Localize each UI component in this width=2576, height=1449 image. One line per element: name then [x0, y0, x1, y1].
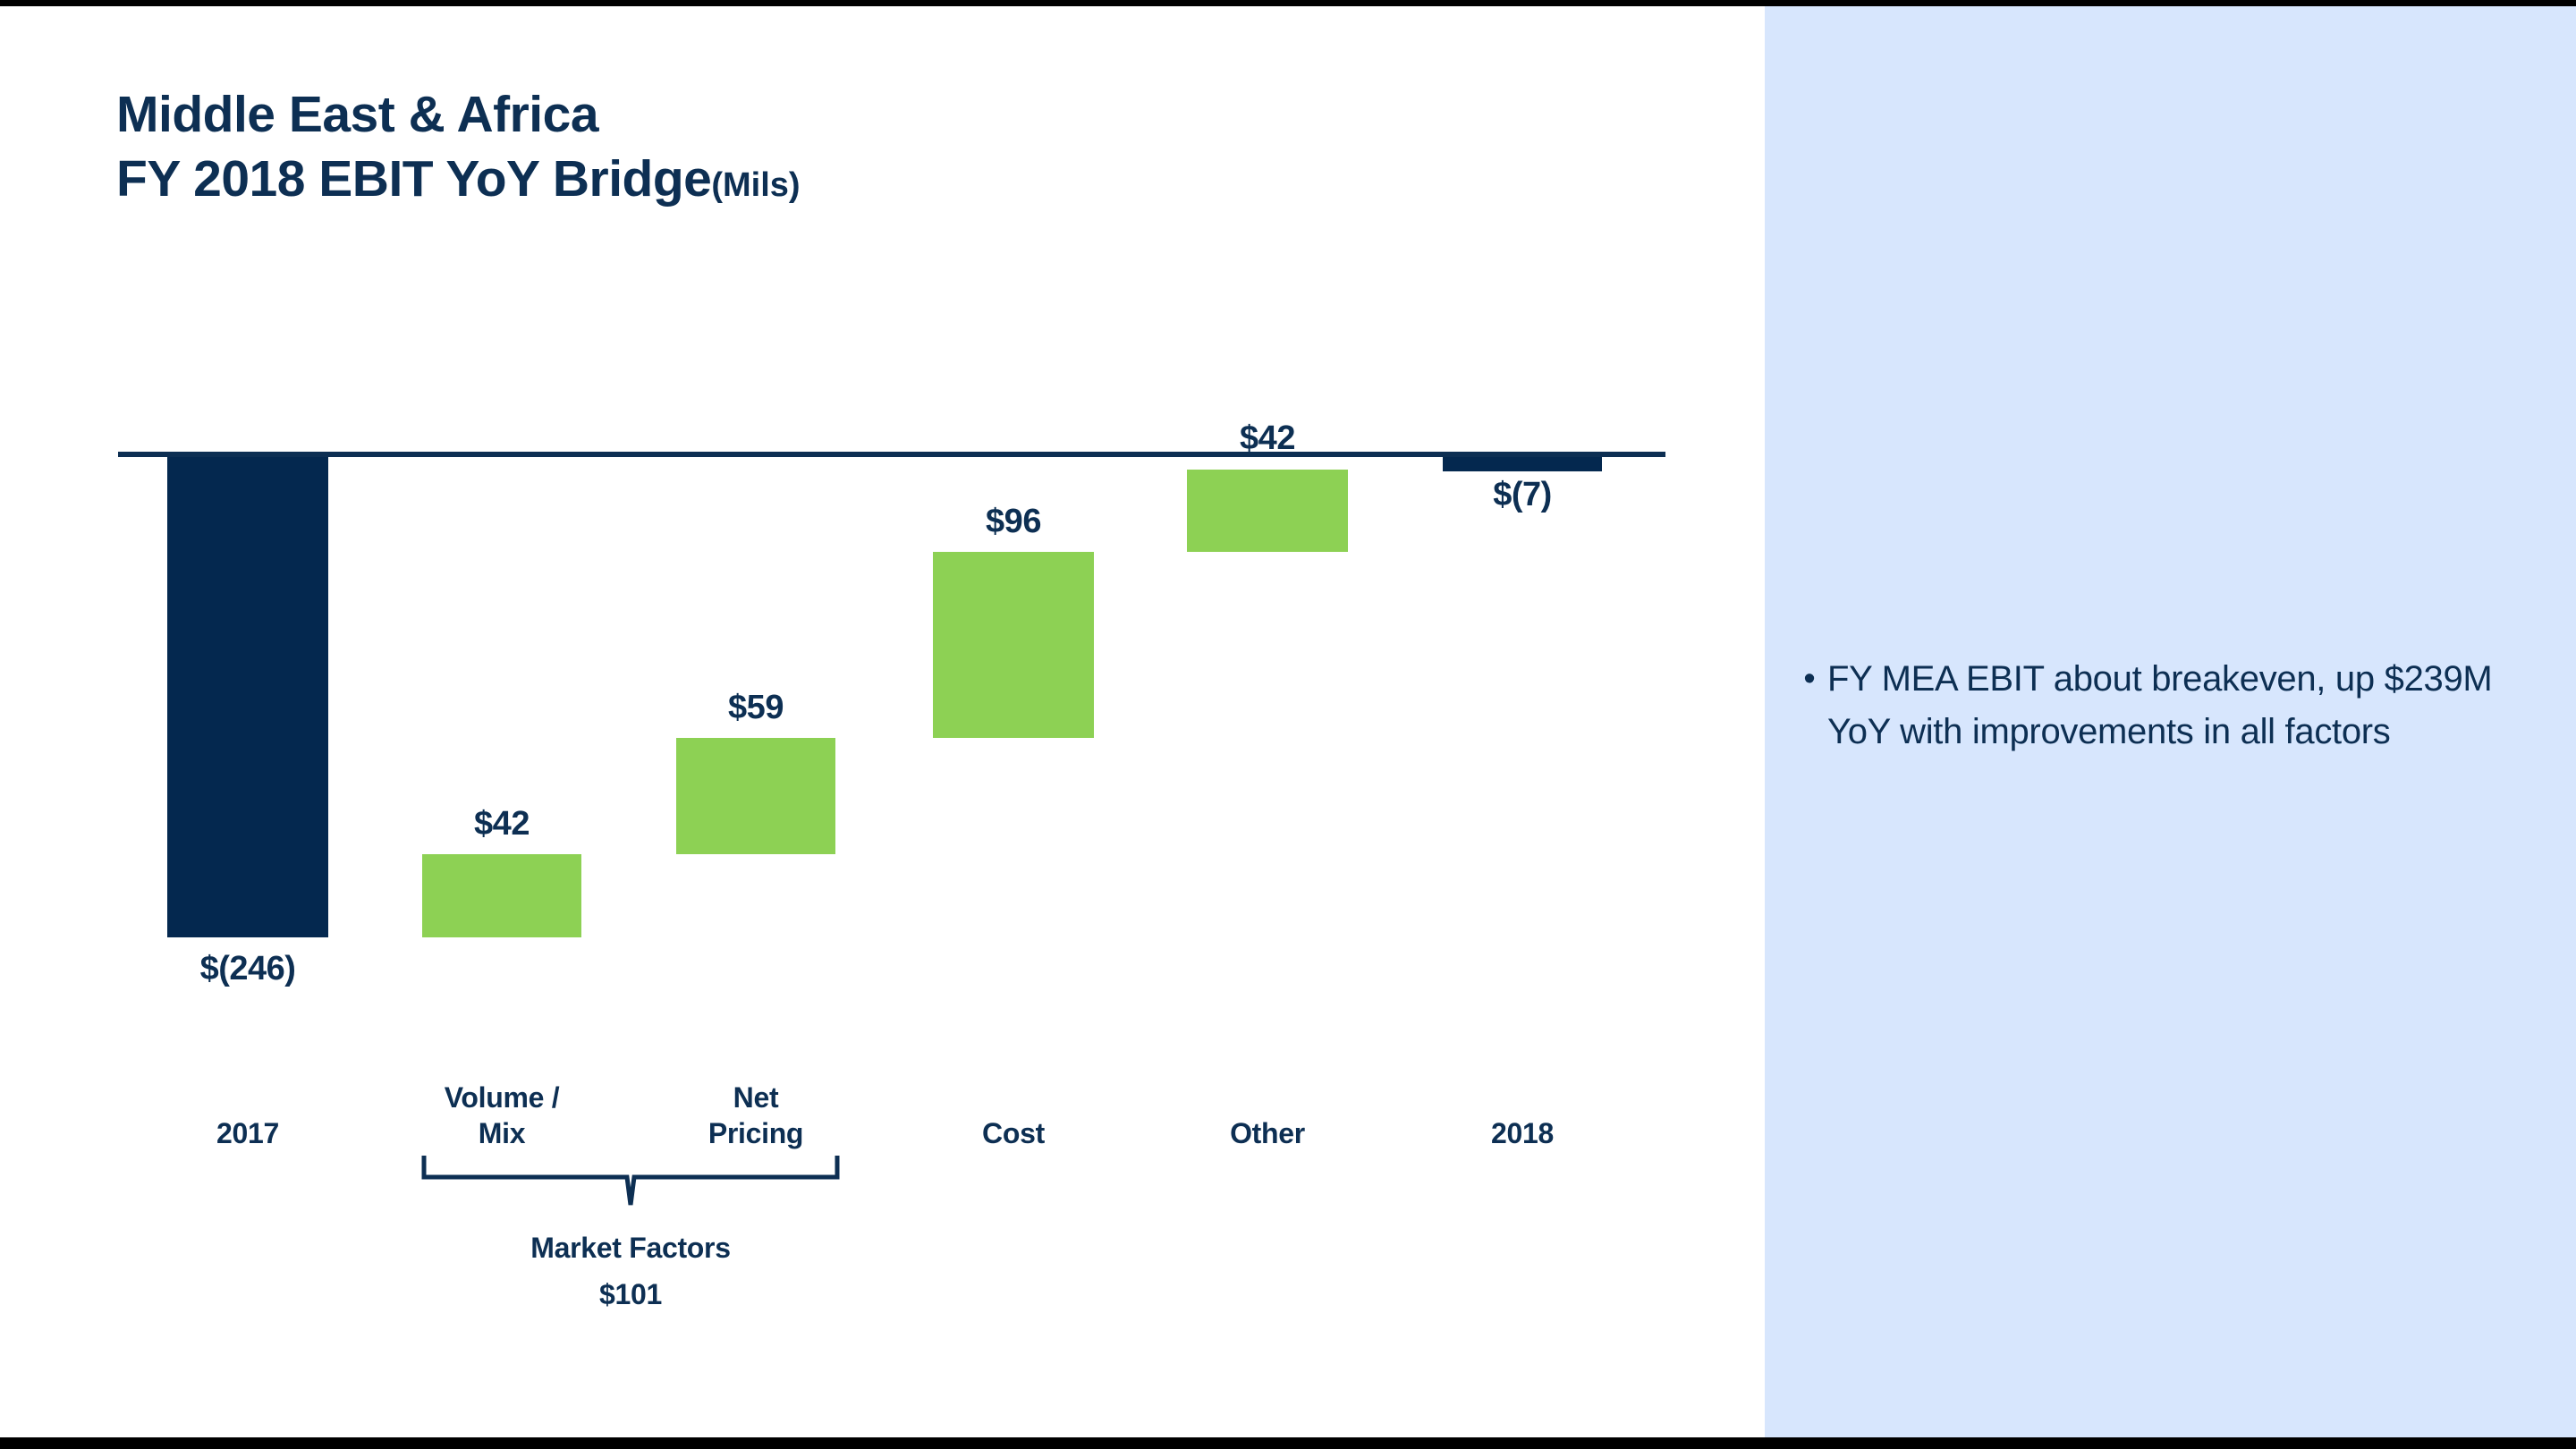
category-label-net-pricing: Net Pricing: [666, 1080, 845, 1151]
category-label-other: Other: [1178, 1115, 1357, 1151]
category-label-2017: 2017: [158, 1115, 337, 1151]
info-panel: • FY MEA EBIT about breakeven, up $239M …: [1765, 6, 2576, 1437]
category-label-volume-mix-line2: Mix: [479, 1117, 525, 1149]
bar-label-net-pricing: $59: [648, 689, 863, 727]
bar-2018[interactable]: [1443, 457, 1602, 471]
bar-label-2017: $(246): [140, 950, 355, 988]
bar-2017[interactable]: [167, 457, 328, 937]
category-label-2018: 2018: [1433, 1115, 1612, 1151]
market-factors-bracket: [420, 1156, 841, 1214]
group-label-market-factors-value: $101: [452, 1278, 809, 1311]
group-label-market-factors: Market Factors: [452, 1232, 809, 1265]
bullet-item: • FY MEA EBIT about breakeven, up $239M …: [1792, 653, 2534, 758]
bar-net-pricing[interactable]: [676, 738, 835, 854]
bullet-text: FY MEA EBIT about breakeven, up $239M Yo…: [1827, 653, 2534, 758]
bar-label-other: $42: [1160, 419, 1375, 458]
bar-other[interactable]: [1187, 470, 1348, 552]
bar-label-volume-mix: $42: [394, 805, 609, 843]
bottom-border-band: [0, 1437, 2576, 1449]
zero-axis-line: [118, 452, 1665, 457]
bracket-icon: [420, 1156, 841, 1214]
bar-cost[interactable]: [933, 552, 1094, 738]
category-label-net-pricing-line2: Pricing: [708, 1117, 803, 1149]
bar-label-cost: $96: [906, 503, 1121, 541]
waterfall-chart: $(246) $42 $59 $96 $42 $(7) 2017 Volume …: [0, 6, 1765, 1437]
category-label-cost: Cost: [924, 1115, 1103, 1151]
category-label-volume-mix: Volume / Mix: [412, 1080, 591, 1151]
category-label-net-pricing-line1: Net: [733, 1081, 779, 1114]
bar-label-2018: $(7): [1415, 476, 1630, 514]
bullet-point-icon: •: [1792, 653, 1827, 705]
bar-volume-mix[interactable]: [422, 854, 581, 937]
category-label-volume-mix-line1: Volume /: [445, 1081, 560, 1114]
top-border-band: [0, 0, 2576, 6]
slide-canvas: Middle East & Africa FY 2018 EBIT YoY Br…: [0, 6, 2576, 1437]
